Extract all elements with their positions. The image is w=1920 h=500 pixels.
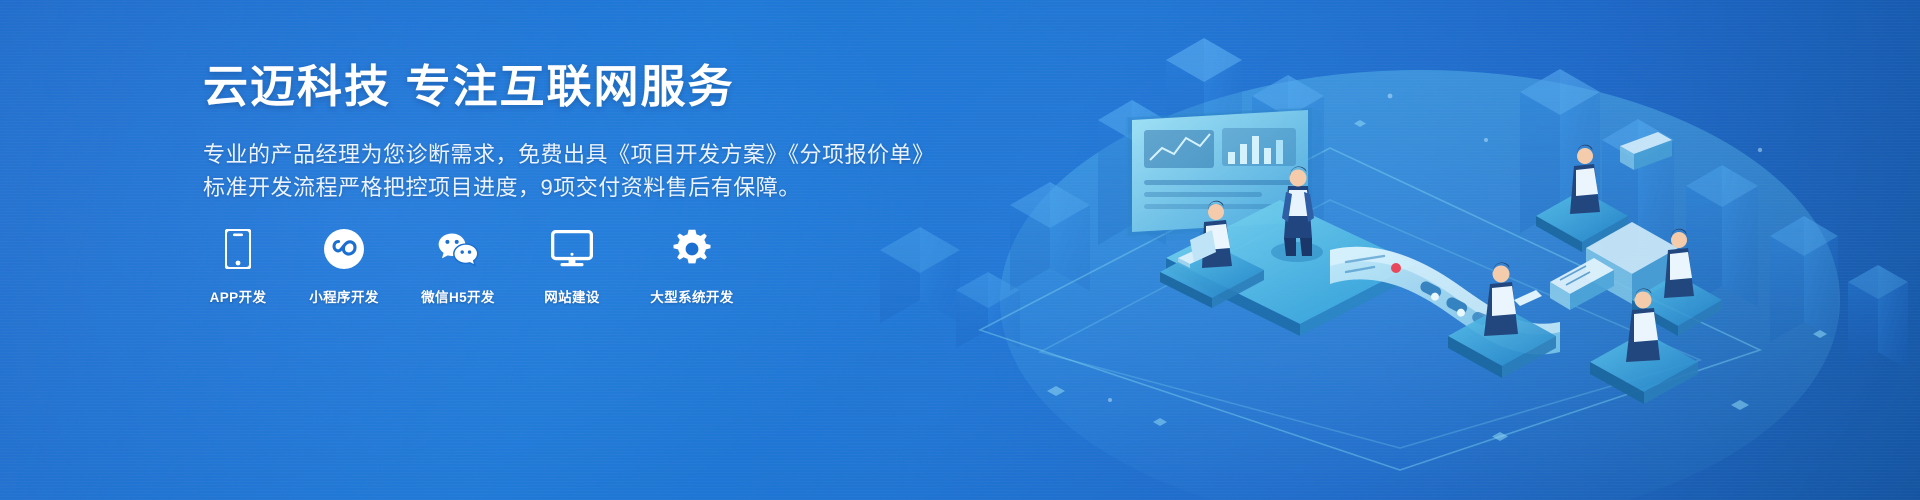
- hero-banner: 云迈科技 专注互联网服务 专业的产品经理为您诊断需求，免费出具《项目开发方案》《…: [0, 0, 1920, 500]
- service-label: 网站建设: [544, 286, 600, 306]
- service-item-large-system[interactable]: 大型系统开发: [643, 228, 741, 306]
- wechat-icon: [437, 228, 479, 270]
- service-item-website[interactable]: 网站建设: [537, 228, 607, 306]
- hero-subtitle: 专业的产品经理为您诊断需求，免费出具《项目开发方案》《分项报价单》 标准开发流程…: [203, 138, 935, 204]
- service-label: 大型系统开发: [650, 286, 733, 306]
- hero-copy: 云迈科技 专注互联网服务 专业的产品经理为您诊断需求，免费出具《项目开发方案》《…: [203, 60, 935, 204]
- service-item-wechat-h5[interactable]: 微信H5开发: [415, 228, 501, 306]
- service-label: 微信H5开发: [421, 286, 495, 306]
- mini-program-icon: [323, 228, 365, 270]
- monitor-icon: [551, 228, 593, 270]
- mobile-phone-icon: [217, 228, 259, 270]
- service-list: APP开发 小程序开发 微信: [203, 228, 741, 306]
- service-label: 小程序开发: [309, 286, 379, 306]
- service-label: APP开发: [210, 286, 267, 306]
- service-item-app[interactable]: APP开发: [203, 228, 273, 306]
- service-item-miniprogram[interactable]: 小程序开发: [309, 228, 379, 306]
- gear-icon: [671, 228, 713, 270]
- hero-subtitle-line-2: 标准开发流程严格把控项目进度，9项交付资料售后有保障。: [203, 171, 935, 204]
- page-title: 云迈科技 专注互联网服务: [203, 60, 935, 113]
- illustration-isometric-data-platform: [860, 0, 1920, 500]
- hero-subtitle-line-1: 专业的产品经理为您诊断需求，免费出具《项目开发方案》《分项报价单》: [203, 138, 935, 171]
